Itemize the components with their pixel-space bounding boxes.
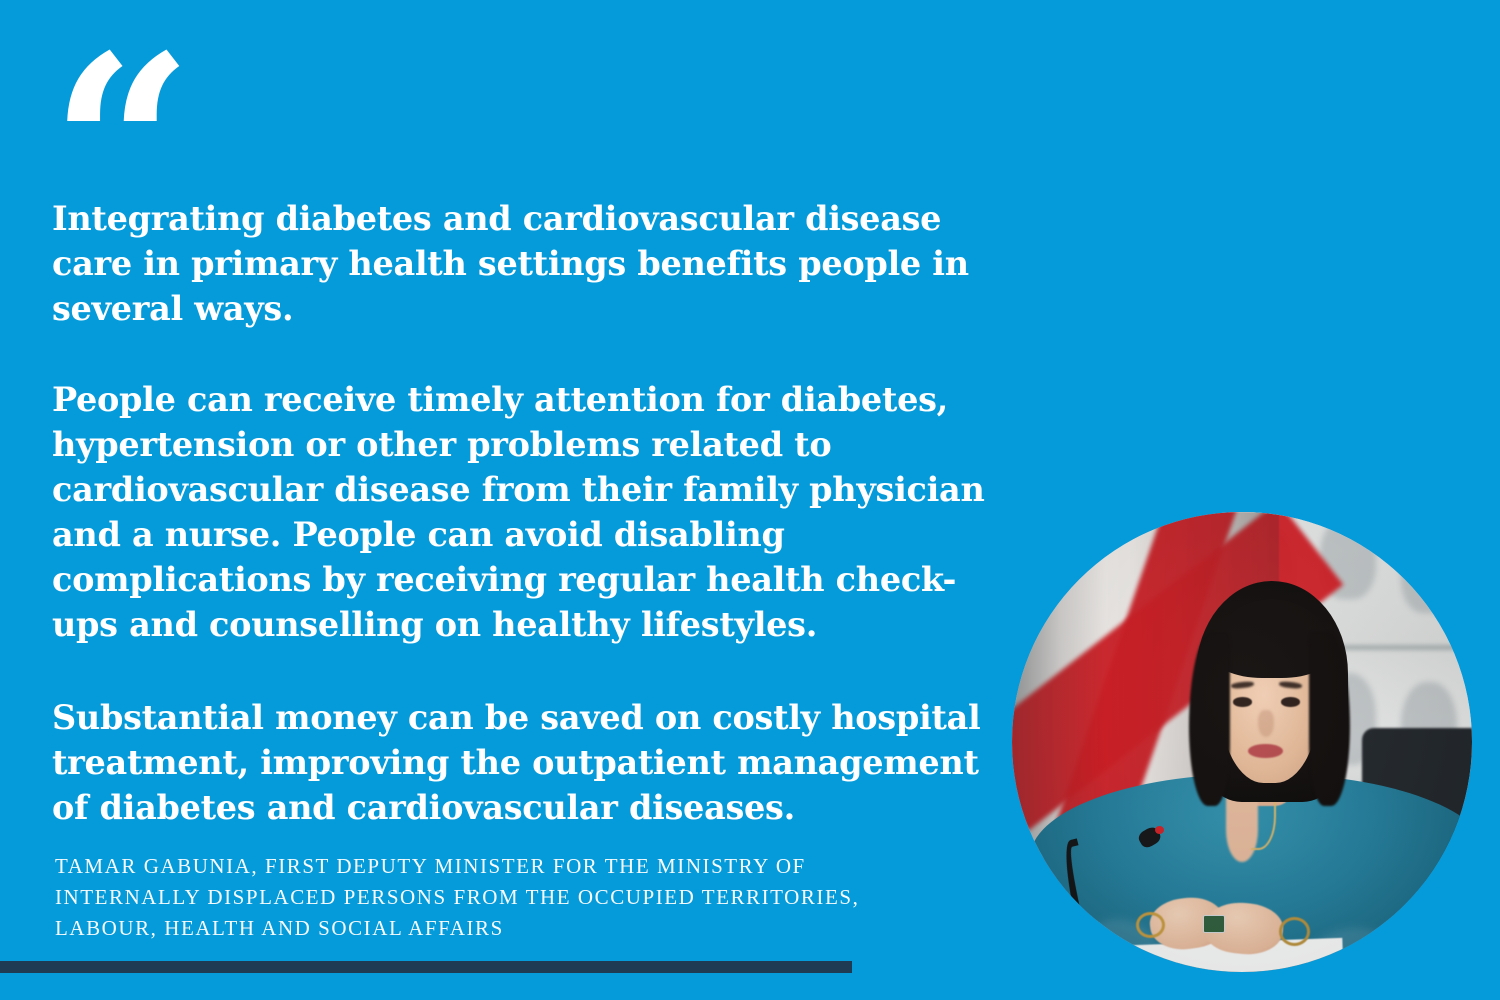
quote-paragraph: Substantial money can be saved on costly… bbox=[52, 695, 1002, 830]
portrait-photo bbox=[1012, 512, 1472, 972]
quote-paragraph: Integrating diabetes and cardiovascular … bbox=[52, 196, 1002, 331]
quote-paragraph: People can receive timely attention for … bbox=[52, 377, 1002, 647]
eye-left bbox=[1233, 697, 1252, 707]
portrait-scene bbox=[1012, 512, 1472, 972]
bottom-divider-rule bbox=[0, 961, 852, 973]
hair-strand-left bbox=[1189, 632, 1230, 807]
ring bbox=[1203, 915, 1225, 934]
wristwatch bbox=[1279, 917, 1310, 946]
quote-attribution: Tamar Gabunia, First Deputy Minister for… bbox=[55, 851, 915, 944]
quote-text-block: Integrating diabetes and cardiovascular … bbox=[52, 196, 1012, 830]
eye-right bbox=[1281, 697, 1300, 707]
quote-card: “ Integrating diabetes and cardiovascula… bbox=[0, 0, 1500, 1000]
mouth bbox=[1248, 744, 1283, 758]
